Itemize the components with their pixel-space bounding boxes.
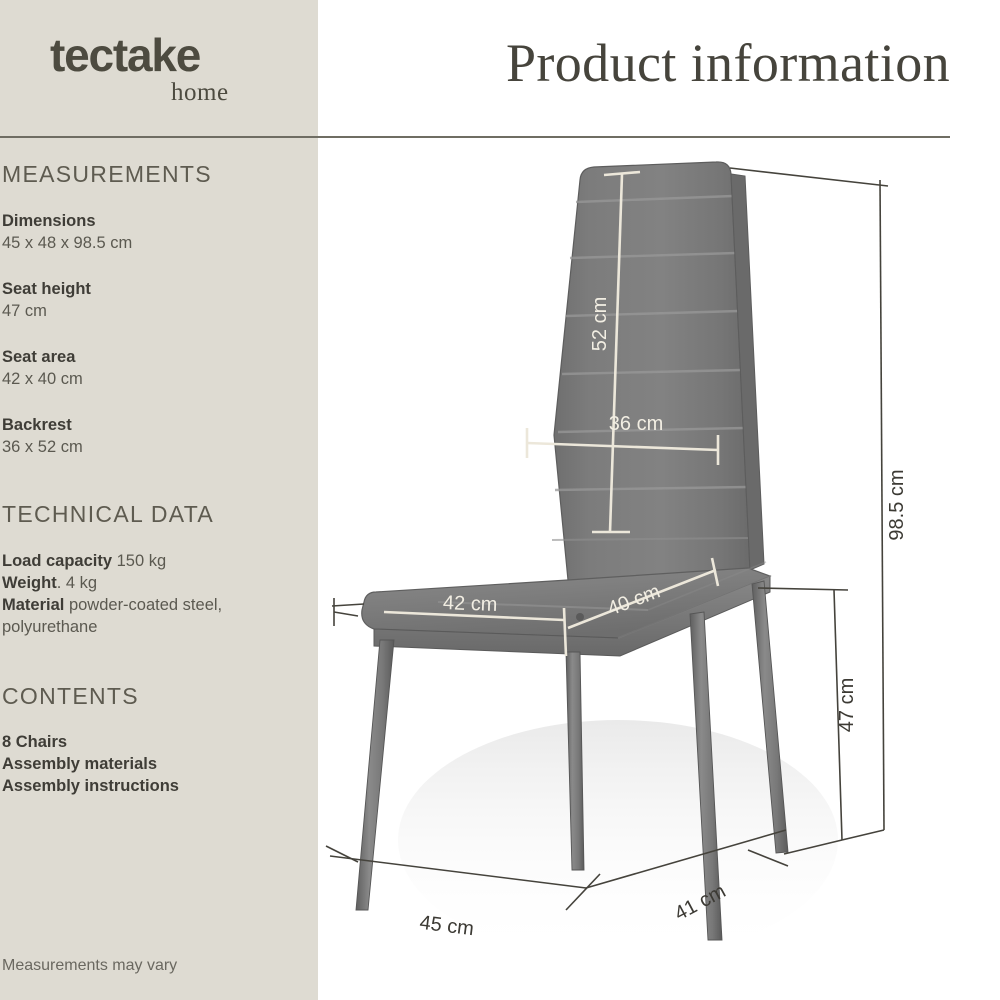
dimension-label-backrest-width: 36 cm bbox=[609, 413, 663, 435]
technical-value-load-capacity: 150 kg bbox=[112, 552, 166, 570]
dimension-label-backrest-height: 52 cm bbox=[589, 297, 611, 351]
page-title: Product information bbox=[400, 35, 950, 92]
technical-value-weight: . 4 kg bbox=[57, 574, 97, 592]
technical-row-material: Material powder-coated steel, polyuretha… bbox=[2, 594, 302, 638]
leg-front-left bbox=[356, 640, 394, 910]
product-information-sheet: tectake home MEASUREMENTS Dimensions 45 … bbox=[0, 0, 1000, 1000]
technical-row-load-capacity: Load capacity 150 kg bbox=[2, 550, 302, 572]
measurement-label-seat-area: Seat area bbox=[2, 348, 75, 367]
measurement-label-seat-height: Seat height bbox=[2, 280, 91, 299]
brand-logo: tectake home bbox=[0, 0, 318, 136]
sidebar: tectake home MEASUREMENTS Dimensions 45 … bbox=[0, 0, 318, 1000]
section-title-measurements: MEASUREMENTS bbox=[2, 161, 212, 188]
brand-tagline: home bbox=[171, 80, 229, 105]
measurement-value-backrest: 36 x 52 cm bbox=[2, 438, 83, 457]
footnote-measurements-may-vary: Measurements may vary bbox=[2, 957, 177, 975]
measurement-value-seat-height: 47 cm bbox=[2, 302, 47, 321]
measurement-label-backrest: Backrest bbox=[2, 416, 72, 435]
chair-diagram: 52 cm 36 cm 42 cm 40 cm bbox=[318, 140, 1000, 1000]
measurement-value-dimensions: 45 x 48 x 98.5 cm bbox=[2, 234, 132, 253]
contents-item-chairs: 8 Chairs bbox=[2, 733, 67, 752]
technical-label-load-capacity: Load capacity bbox=[2, 552, 112, 570]
brand-name: tectake bbox=[50, 32, 200, 78]
dimension-label-seat-width: 42 cm bbox=[443, 592, 498, 616]
section-title-contents: CONTENTS bbox=[2, 683, 139, 710]
section-title-technical-data: TECHNICAL DATA bbox=[2, 501, 214, 528]
dimension-label-seat-height: 47 cm bbox=[836, 678, 858, 732]
technical-label-material: Material bbox=[2, 596, 64, 614]
technical-row-weight: Weight. 4 kg bbox=[2, 572, 302, 594]
measurement-value-seat-area: 42 x 40 cm bbox=[2, 370, 83, 389]
screw-detail bbox=[576, 613, 584, 621]
technical-label-weight: Weight bbox=[2, 574, 57, 592]
measurement-label-dimensions: Dimensions bbox=[2, 212, 96, 231]
header-divider bbox=[0, 136, 950, 138]
chair-backrest bbox=[552, 162, 764, 585]
contents-item-assembly-materials: Assembly materials bbox=[2, 755, 157, 774]
dimension-label-total-height: 98.5 cm bbox=[886, 469, 908, 540]
contents-item-assembly-instructions: Assembly instructions bbox=[2, 777, 179, 796]
